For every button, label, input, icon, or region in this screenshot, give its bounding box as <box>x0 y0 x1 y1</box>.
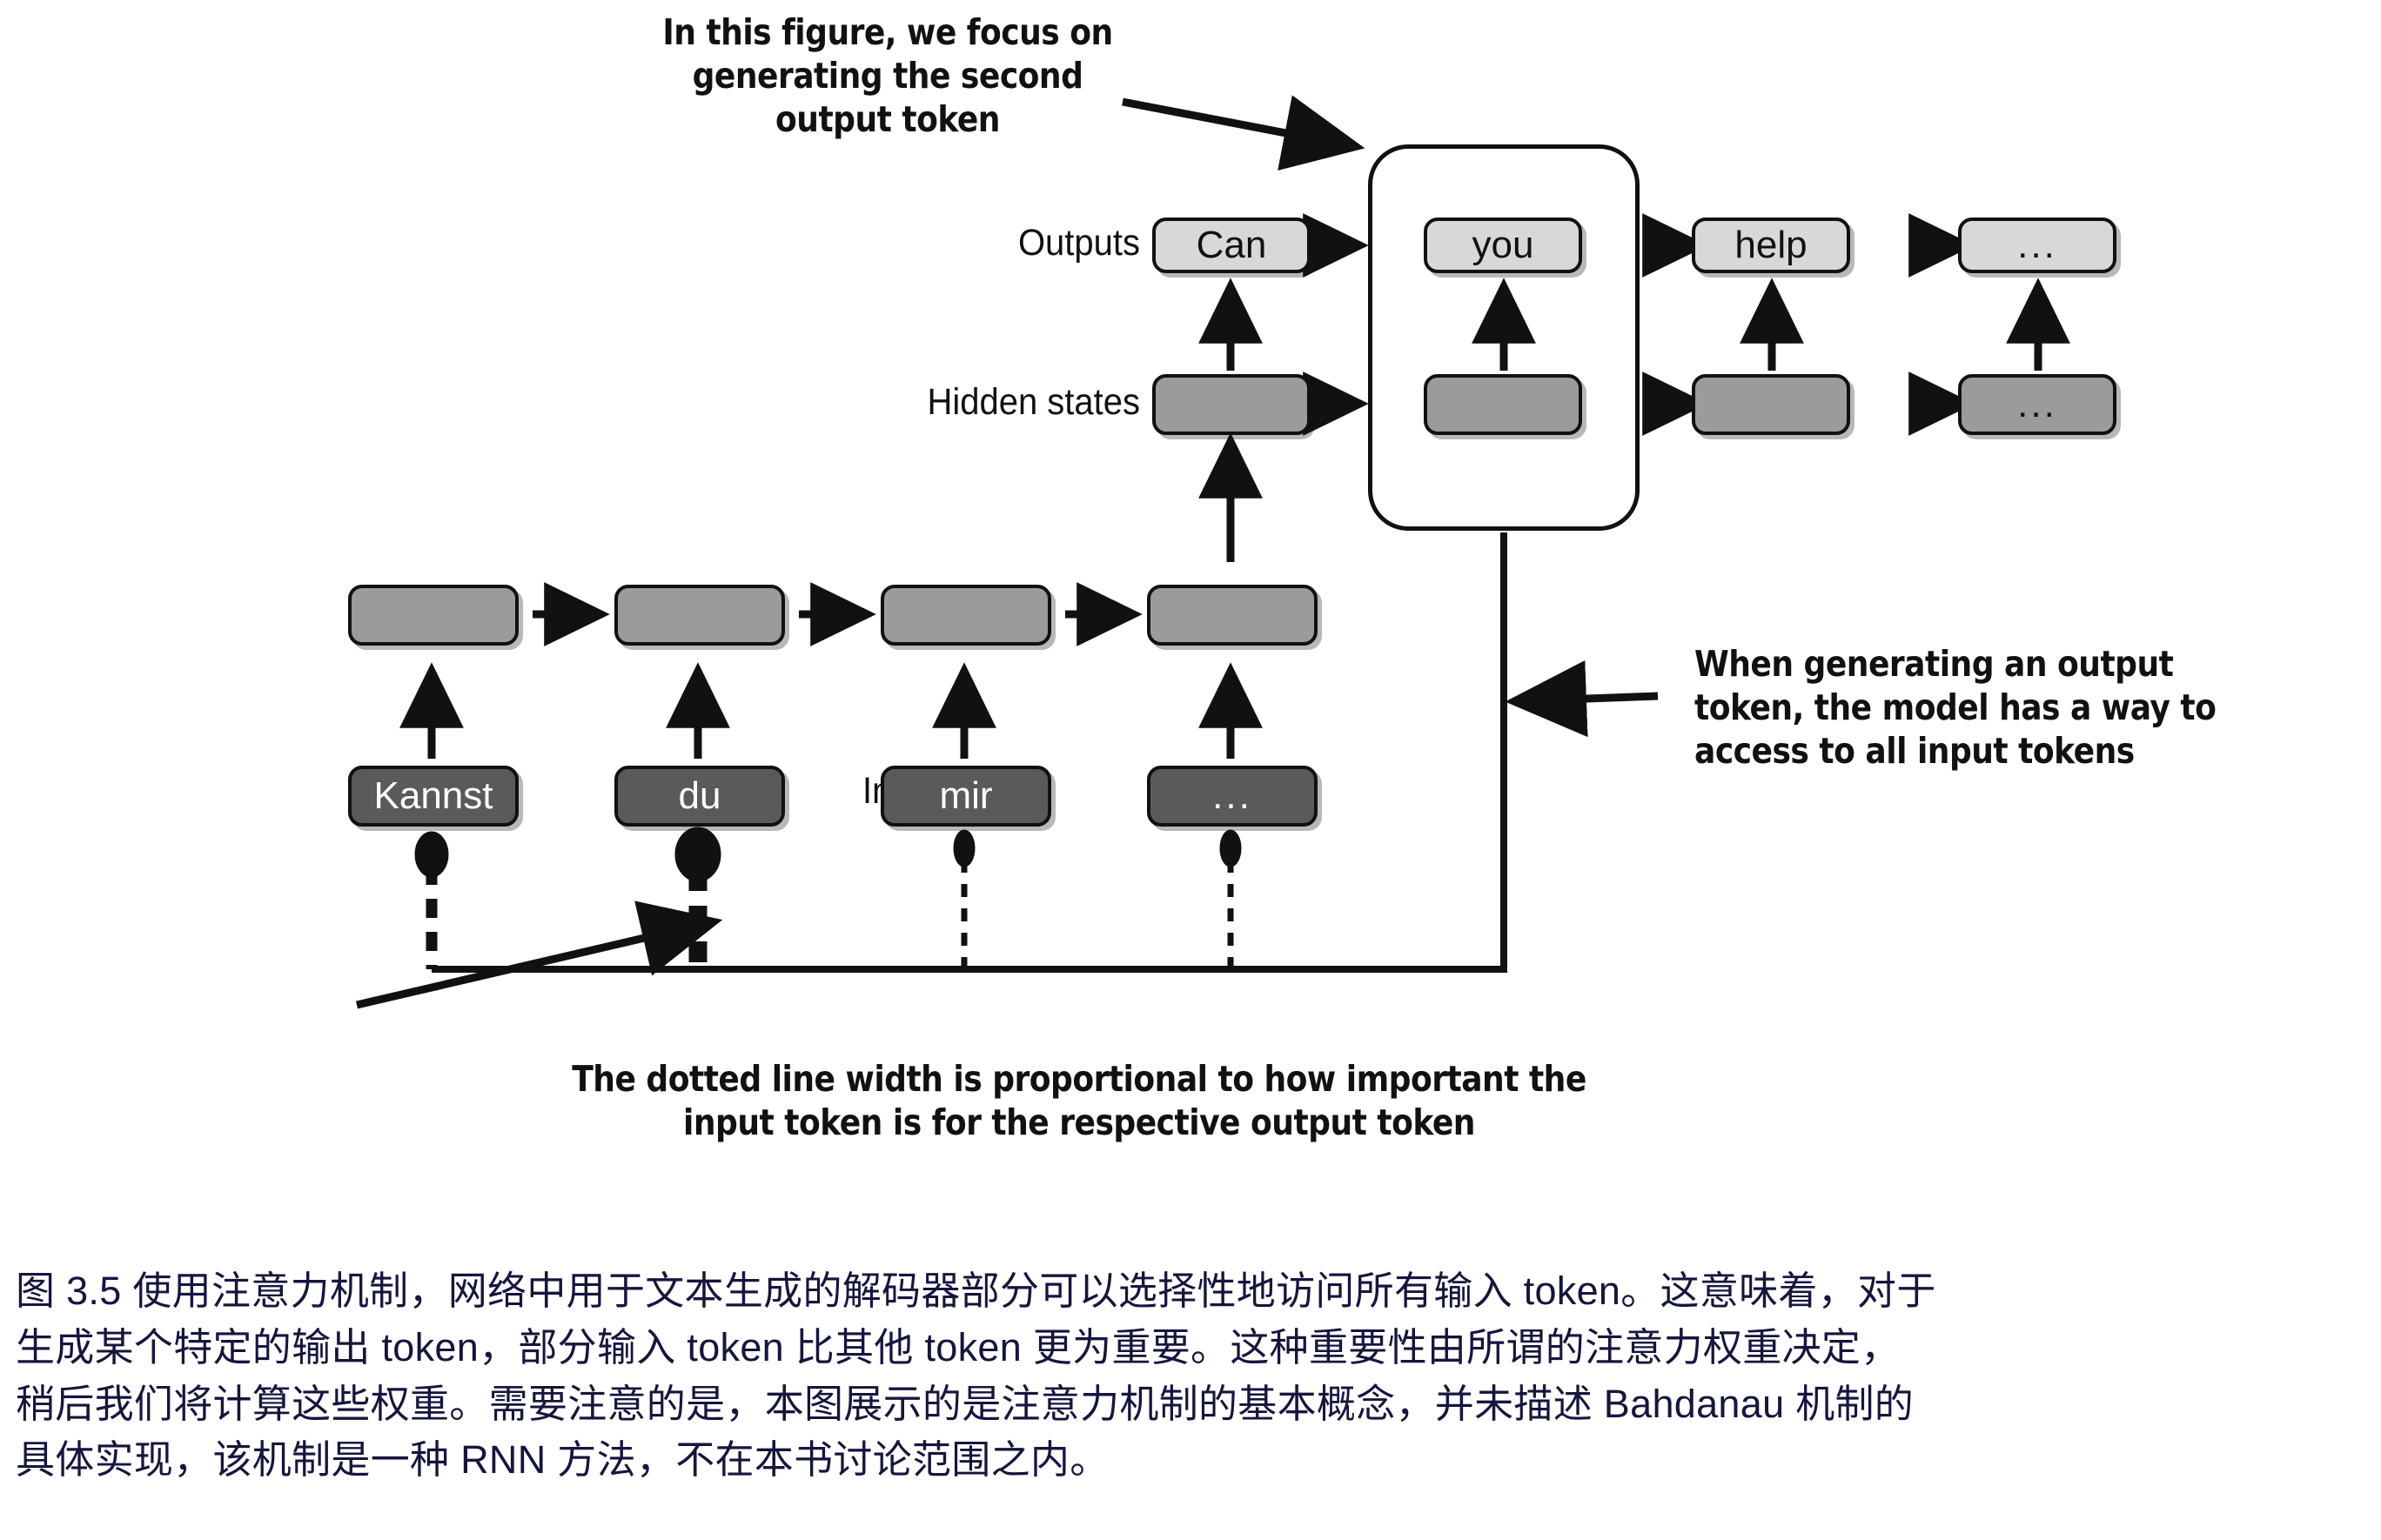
focus-annotation: In this figure, we focus on generating t… <box>642 10 1132 141</box>
hidden-cell-3[interactable] <box>1692 374 1850 435</box>
output-cell-1[interactable]: Can <box>1152 218 1311 273</box>
output-cell-4[interactable]: ... <box>1958 218 2116 273</box>
focus-annotation-line-1: In this figure, we focus on <box>642 10 1132 54</box>
output-cell-2-text: you <box>1472 226 1534 264</box>
caption-line-1: 图 3.5 使用注意力机制，网络中用于文本生成的解码器部分可以选择性地访问所有输… <box>16 1263 2365 1320</box>
encoder-cell-3[interactable] <box>881 585 1051 646</box>
attention-dot-kannst <box>415 832 448 877</box>
encoder-cell-1[interactable] <box>348 585 519 646</box>
leader-right-annotation <box>1516 696 1658 701</box>
figure-attention-overview: Outputs Hidden states Inputs Can you hel… <box>0 0 2381 1540</box>
caption-line-3: 稍后我们将计算这些权重。需要注意的是，本图展示的是注意力机制的基本概念，并未描述… <box>16 1376 2365 1433</box>
input-cell-3-text: mir <box>939 777 992 815</box>
input-cell-4[interactable]: ... <box>1147 766 1318 827</box>
output-cell-1-text: Can <box>1197 226 1267 264</box>
leader-top-annotation <box>1123 102 1354 146</box>
hidden-cell-1[interactable] <box>1152 374 1311 435</box>
output-cell-2[interactable]: you <box>1424 218 1582 273</box>
output-cell-3-text: help <box>1734 226 1807 264</box>
input-cell-2[interactable]: du <box>614 766 785 827</box>
access-annotation-line-3: access to all input tokens <box>1694 729 2230 773</box>
input-cell-4-text: ... <box>1212 777 1252 815</box>
caption-line-4: 具体实现，该机制是一种 RNN 方法，不在本书讨论范围之内。 <box>16 1432 2365 1489</box>
encoder-cell-4[interactable] <box>1147 585 1318 646</box>
output-cell-3[interactable]: help <box>1692 218 1850 273</box>
dotted-width-annotation-line-2: input token is for the respective output… <box>547 1101 1611 1144</box>
hidden-cell-4-text: ... <box>2017 385 2057 424</box>
input-cell-2-text: du <box>679 777 721 815</box>
access-annotation-line-2: token, the model has a way to <box>1694 686 2230 729</box>
attention-dot-mir <box>954 830 975 867</box>
figure-caption: 图 3.5 使用注意力机制，网络中用于文本生成的解码器部分可以选择性地访问所有输… <box>16 1263 2365 1489</box>
attention-dot-du <box>675 827 721 881</box>
dotted-width-annotation: The dotted line width is proportional to… <box>547 1057 1611 1144</box>
focus-annotation-line-2: generating the second <box>642 54 1132 97</box>
output-cell-4-text: ... <box>2017 226 2057 264</box>
dotted-width-annotation-line-1: The dotted line width is proportional to… <box>547 1057 1611 1101</box>
input-cell-3[interactable]: mir <box>881 766 1051 827</box>
input-cell-1[interactable]: Kannst <box>348 766 519 827</box>
row-label-outputs: Outputs <box>711 222 1140 264</box>
input-cell-1-text: Kannst <box>374 777 493 815</box>
focus-annotation-line-3: output token <box>642 97 1132 141</box>
hidden-cell-4[interactable]: ... <box>1958 374 2116 435</box>
attention-dot-ellipsis <box>1220 830 1241 867</box>
focus-highlight-box <box>1368 144 1640 531</box>
access-annotation: When generating an output token, the mod… <box>1694 642 2230 773</box>
encoder-cell-2[interactable] <box>614 585 785 646</box>
caption-line-2: 生成某个特定的输出 token，部分输入 token 比其他 token 更为重… <box>16 1320 2365 1376</box>
access-annotation-line-1: When generating an output <box>1694 642 2230 686</box>
hidden-cell-2[interactable] <box>1424 374 1582 435</box>
leader-bottom-annotation <box>357 922 712 1005</box>
row-label-hidden-states: Hidden states <box>647 381 1140 424</box>
